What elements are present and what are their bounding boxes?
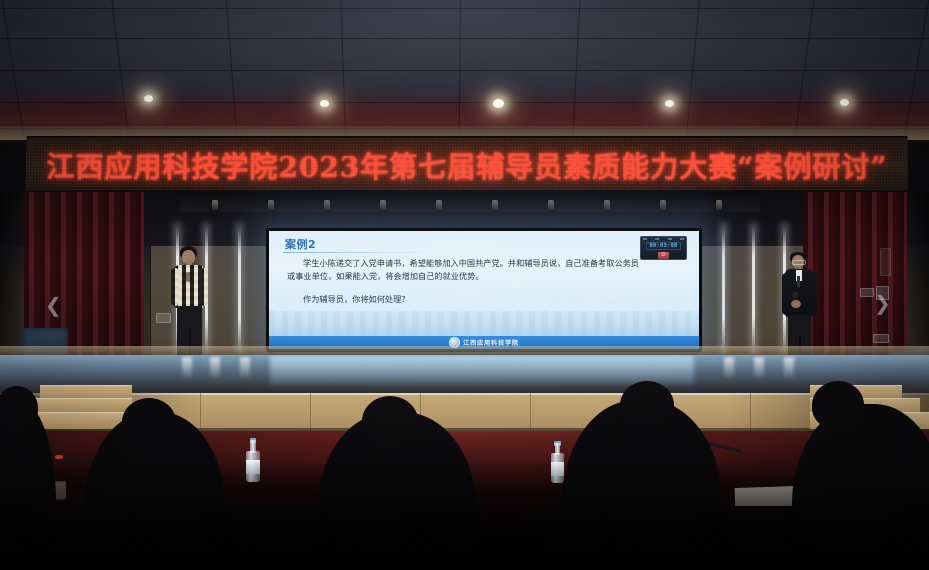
slide-title-underline [283,252,433,253]
ceiling [0,0,929,140]
timer-top-indicators [643,238,684,241]
slide-body-text: 学生小陈递交了入党申请书，希望能够加入中国共产党。并和辅导员说，自己准备考取公务… [287,257,639,284]
led-banner: 江西应用科技学院2023年第七届辅导员素质能力大赛“案例研讨” [25,136,908,197]
presenter-right-tie [797,276,800,287]
audience-member-head [620,381,674,429]
ceiling-downlight [493,99,504,108]
timer-readout: 00:03:00 [646,242,680,250]
presentation-screen[interactable]: 案例2 学生小陈递交了入党申请书，希望能够加入中国共产党。并和辅导员说，自己准备… [266,228,702,352]
foreground-vignette [0,460,929,570]
chevron-left-icon: ❮ [45,295,62,315]
banner-dot-matrix-overlay [26,138,909,194]
audience-member-head [362,396,418,446]
ceiling-downlight [320,100,329,107]
auditorium-photo: 江西应用科技学院2023年第七届辅导员素质能力大赛“案例研讨” ❮ ❯ 案 [0,0,929,570]
slide-question-text: 作为辅导员，你将如何处理？ [287,293,627,306]
led-light-strip [752,224,755,354]
wall-vent-panel [880,248,891,276]
slide-background-imagery [269,311,699,337]
wall-signage-box [873,334,889,343]
presenter-right-arm [782,273,790,315]
audience-member-head [0,386,38,430]
led-light-strip [238,224,241,354]
presenter-right-arm [809,273,817,315]
slide-title: 案例2 [285,236,316,252]
presenter-right-glasses [792,260,806,265]
timer-power-icon[interactable]: ⏻ [658,252,669,259]
desk-microphone-tip [55,455,63,459]
ceiling-downlight [144,95,153,102]
slide-canvas: 案例2 学生小陈递交了入党申请书，希望能够加入中国共产党。并和辅导员说，自己准备… [269,231,699,349]
audience-member-head [812,381,864,429]
stage-front-lip [0,346,929,355]
ceiling-downlight [665,100,674,107]
ceiling-shading [0,0,929,140]
stage-floor [0,355,929,393]
audience-member-head [122,398,176,446]
led-light-strip [722,224,725,354]
presenter-left-arm [200,268,208,306]
screen-reflection [270,355,694,385]
wall-signage-box [860,288,874,297]
countdown-timer-widget[interactable]: 00:03:00 ⏻ [640,236,687,260]
overhead-light-truss [180,196,760,212]
ceiling-downlight [840,99,849,106]
presenter-left-arm [171,268,179,306]
wall-signage-box [876,286,889,300]
